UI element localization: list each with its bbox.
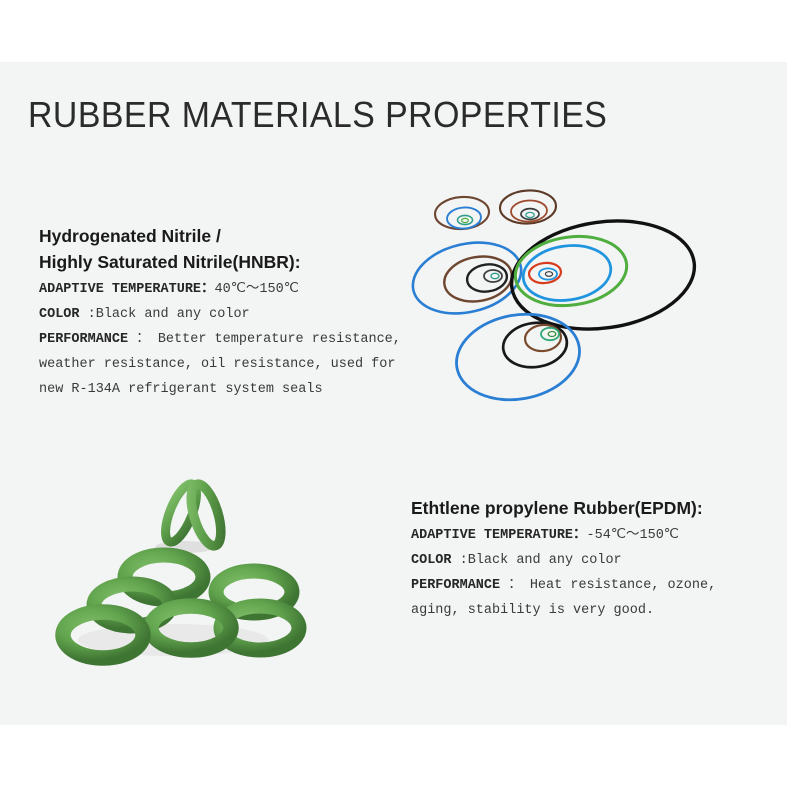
green-o-rings-image bbox=[55, 465, 330, 670]
epdm-heading: Ethtlene propylene Rubber(EPDM): bbox=[411, 497, 716, 519]
epdm-temperature-label: ADAPTIVE TEMPERATURE： bbox=[411, 528, 587, 543]
hnbr-color-label: COLOR bbox=[39, 307, 80, 322]
epdm-performance-label: PERFORMANCE bbox=[411, 578, 500, 593]
material-block-hnbr: Hydrogenated Nitrile / Highly Saturated … bbox=[39, 225, 401, 402]
epdm-color-line: COLOR :Black and any color bbox=[411, 548, 716, 573]
hnbr-performance-value: ： Better temperature resistance, bbox=[136, 332, 401, 347]
material-block-epdm: Ethtlene propylene Rubber(EPDM): ADAPTIV… bbox=[411, 497, 716, 623]
hnbr-heading-line-1: Hydrogenated Nitrile / bbox=[39, 225, 401, 247]
hnbr-performance-label: PERFORMANCE bbox=[39, 332, 128, 347]
hnbr-heading-line-2: Highly Saturated Nitrile(HNBR): bbox=[39, 251, 401, 273]
hnbr-performance-line-3: new R-134A refrigerant system seals bbox=[39, 377, 401, 402]
hnbr-temperature-label: ADAPTIVE TEMPERATURE： bbox=[39, 282, 215, 297]
hnbr-performance-line-1: PERFORMANCE ： Better temperature resista… bbox=[39, 327, 401, 352]
epdm-temperature-line: ADAPTIVE TEMPERATURE：-54℃～150℃ bbox=[411, 523, 716, 548]
epdm-temperature-value: -54℃～150℃ bbox=[587, 528, 679, 543]
epdm-performance-line-2: aging, stability is very good. bbox=[411, 598, 716, 623]
hnbr-temperature-value: 40℃～150℃ bbox=[215, 282, 299, 297]
page-title: RUBBER MATERIALS PROPERTIES bbox=[28, 94, 607, 136]
hnbr-color-line: COLOR :Black and any color bbox=[39, 302, 401, 327]
hnbr-color-value: :Black and any color bbox=[88, 307, 250, 322]
epdm-color-value: :Black and any color bbox=[460, 553, 622, 568]
hnbr-performance-line-2: weather resistance, oil resistance, used… bbox=[39, 352, 401, 377]
epdm-performance-value: ： Heat resistance, ozone, bbox=[508, 578, 716, 593]
page-root: RUBBER MATERIALS PROPERTIES Hydrogenated… bbox=[0, 0, 787, 787]
standing-o-ring-right bbox=[185, 481, 227, 549]
epdm-color-label: COLOR bbox=[411, 553, 452, 568]
assorted-o-rings-image bbox=[395, 175, 725, 435]
epdm-performance-line-1: PERFORMANCE ： Heat resistance, ozone, bbox=[411, 573, 716, 598]
hnbr-temperature-line: ADAPTIVE TEMPERATURE：40℃～150℃ bbox=[39, 277, 401, 302]
